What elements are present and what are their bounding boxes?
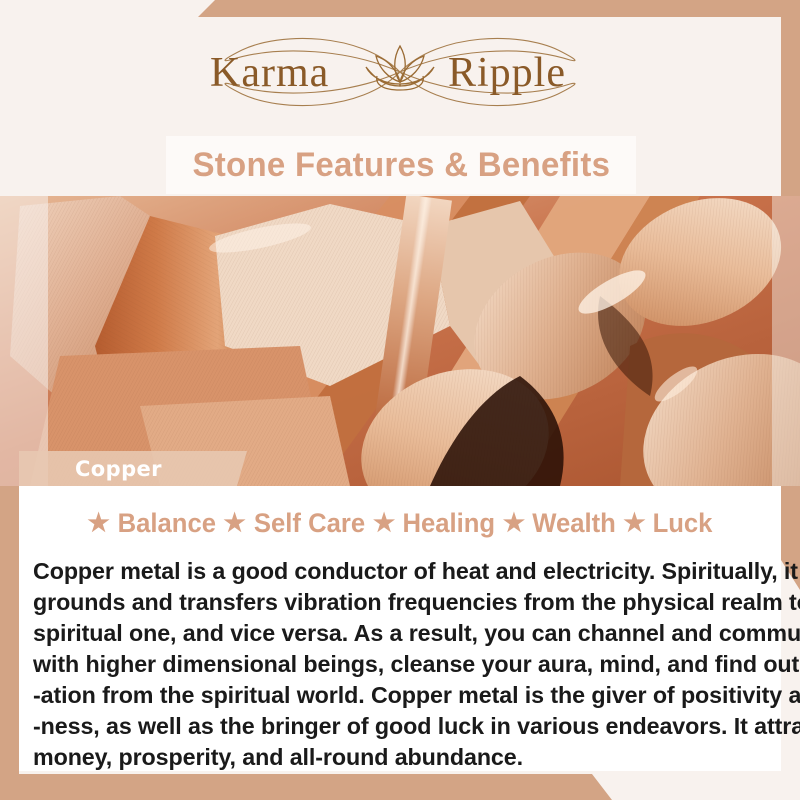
keyword-self-care: Self Care [254, 508, 365, 539]
keyword-balance: Balance [117, 508, 215, 539]
brand-logo-svg: Karma Ripple [170, 24, 630, 120]
star-icon: ★ [623, 511, 645, 536]
keyword-luck: Luck [652, 508, 712, 539]
brand-name-right: Ripple [448, 50, 566, 96]
frame-accent-top [0, 0, 800, 17]
description-text: Copper metal is a good conductor of heat… [33, 556, 773, 773]
keyword-list: ★ Balance ★ Self Care ★ Healing ★ Wealth… [19, 508, 781, 539]
stone-name-bar: Copper [19, 451, 247, 486]
star-icon: ★ [373, 511, 395, 536]
stone-name: Copper [75, 457, 162, 481]
frame-accent-bottom [0, 774, 800, 800]
page-title: Stone Features & Benefits [192, 146, 610, 185]
star-icon: ★ [87, 511, 109, 536]
description-line: -ness, as well as the bringer of good lu… [33, 711, 766, 742]
description-line: Copper metal is a good conductor of heat… [33, 556, 766, 587]
star-icon: ★ [503, 511, 525, 536]
keyword-healing: Healing [403, 508, 496, 539]
hero-photo [0, 196, 800, 486]
description-line: with higher dimensional beings, cleanse … [33, 649, 766, 680]
star-icon: ★ [223, 511, 245, 536]
description-line: money, prosperity, and all-round abundan… [33, 742, 766, 773]
description-line: grounds and transfers vibration frequenc… [33, 587, 766, 618]
hero-photo-art [0, 196, 800, 486]
description-line: -ation from the spiritual world. Copper … [33, 680, 766, 711]
stone-info-card: Karma Ripple Stone Features & Benefits [0, 0, 800, 800]
brand-logo: Karma Ripple [0, 18, 800, 126]
brand-name-left: Karma [210, 50, 329, 96]
lotus-icon [366, 46, 434, 90]
keyword-wealth: Wealth [532, 508, 616, 539]
section-title-banner: Stone Features & Benefits [166, 136, 636, 194]
description-line: spiritual one, and vice versa. As a resu… [33, 618, 766, 649]
